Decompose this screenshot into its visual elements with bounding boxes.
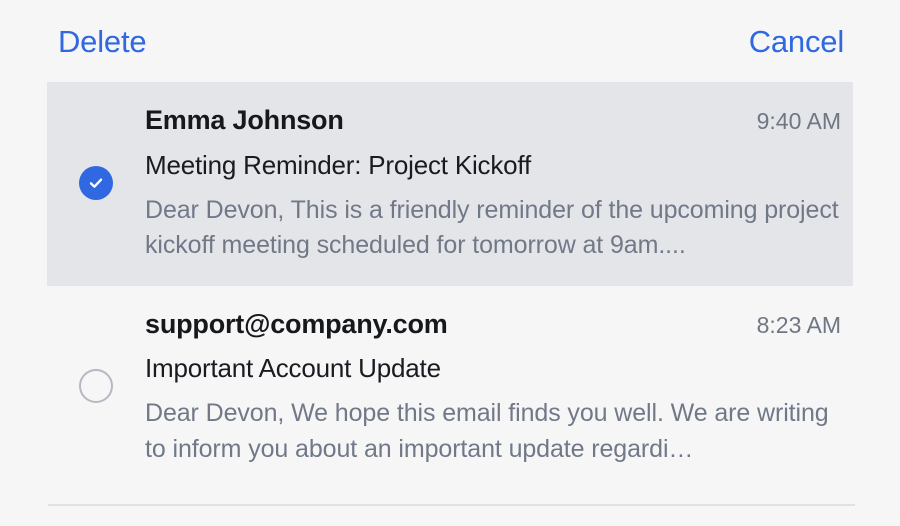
- check-circle-filled-icon[interactable]: [79, 166, 113, 200]
- message-list: Emma Johnson 9:40 AM Meeting Reminder: P…: [0, 82, 900, 489]
- sender-name: Emma Johnson: [145, 106, 344, 136]
- select-cell-0[interactable]: [47, 166, 145, 204]
- message-header-1: support@company.com 8:23 AM: [145, 310, 841, 340]
- list-divider: [48, 504, 855, 506]
- circle-outline-icon[interactable]: [79, 369, 113, 403]
- message-preview: Dear Devon, This is a friendly reminder …: [145, 193, 841, 264]
- message-content-0: Emma Johnson 9:40 AM Meeting Reminder: P…: [145, 106, 843, 264]
- message-preview: Dear Devon, We hope this email finds you…: [145, 396, 841, 467]
- email-selection-screen: Delete Cancel Emma Johnson 9:40 AM Meeti…: [0, 0, 900, 526]
- message-subject: Important Account Update: [145, 354, 841, 384]
- message-content-1: support@company.com 8:23 AM Important Ac…: [145, 310, 843, 468]
- message-row-0[interactable]: Emma Johnson 9:40 AM Meeting Reminder: P…: [47, 82, 853, 286]
- select-cell-1[interactable]: [47, 369, 145, 407]
- message-row-1[interactable]: support@company.com 8:23 AM Important Ac…: [47, 286, 853, 490]
- selection-toolbar: Delete Cancel: [0, 0, 900, 82]
- message-subject: Meeting Reminder: Project Kickoff: [145, 151, 841, 181]
- message-time: 8:23 AM: [757, 313, 841, 338]
- cancel-button[interactable]: Cancel: [749, 26, 844, 57]
- sender-name: support@company.com: [145, 310, 448, 340]
- message-time: 9:40 AM: [757, 109, 841, 134]
- delete-button[interactable]: Delete: [58, 26, 146, 57]
- message-header-0: Emma Johnson 9:40 AM: [145, 106, 841, 136]
